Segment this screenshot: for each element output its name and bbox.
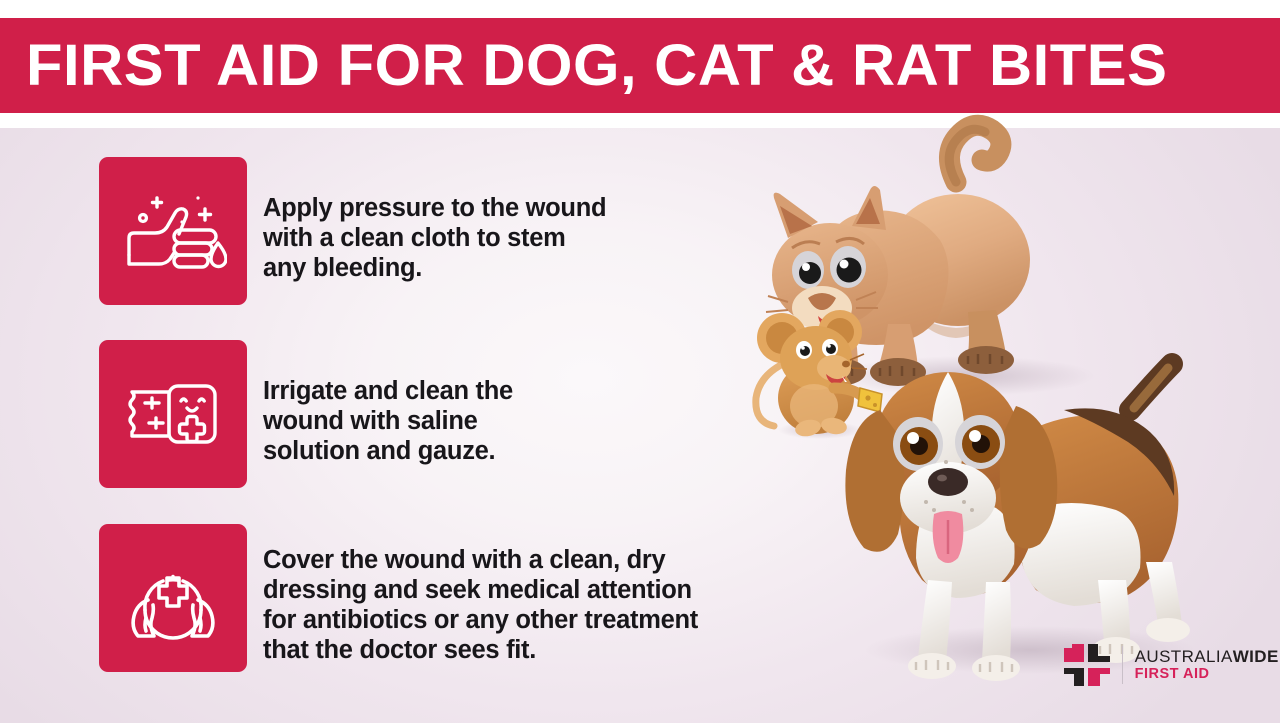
bleeding-finger-icon — [119, 181, 227, 281]
step-item-1: Apply pressure to the wound with a clean… — [99, 157, 606, 305]
step-2-icon-box — [99, 340, 247, 488]
step-item-3: Cover the wound with a clean, dry dressi… — [99, 524, 698, 672]
logo-divider — [1122, 646, 1123, 684]
step-3-icon-box — [99, 524, 247, 672]
step-1-text: Apply pressure to the wound with a clean… — [263, 157, 606, 284]
step-item-2: Irrigate and clean the wound with saline… — [99, 340, 513, 488]
gauze-bandage-icon — [123, 370, 223, 458]
page-title: FIRST AID FOR DOG, CAT & RAT BITES — [26, 37, 1167, 95]
logo-wide-text: WIDE — [1233, 647, 1279, 666]
logo-australia-text: AUSTRALIA — [1135, 647, 1233, 666]
step-3-text: Cover the wound with a clean, dry dressi… — [263, 524, 698, 666]
logo-first-aid-text: FIRST AID — [1135, 666, 1210, 682]
step-1-icon-box — [99, 157, 247, 305]
step-2-text: Irrigate and clean the wound with saline… — [263, 340, 513, 467]
australia-wide-cross-logo-icon — [1064, 644, 1110, 686]
caring-hands-cross-icon — [119, 548, 227, 648]
logo-line-1: AUSTRALIAWIDE — [1135, 647, 1279, 666]
infographic-poster: FIRST AID FOR DOG, CAT & RAT BITES — [0, 0, 1280, 723]
header-bar: FIRST AID FOR DOG, CAT & RAT BITES — [0, 18, 1280, 113]
logo-wordmark: AUSTRALIAWIDE FIRST AID — [1135, 648, 1280, 682]
australia-wide-first-aid-logo: AUSTRALIAWIDE FIRST AID — [1064, 644, 1280, 686]
